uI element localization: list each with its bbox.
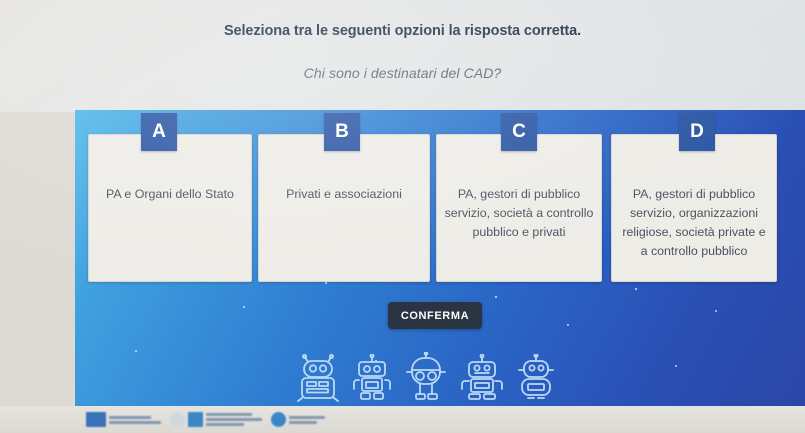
question-header: Seleziona tra le seguenti opzioni la ris… — [0, 0, 805, 112]
answer-option-b[interactable]: Privati e associazioni — [258, 134, 430, 282]
answer-badge-d[interactable]: D — [679, 113, 715, 151]
confirm-button[interactable]: CONFERMA — [388, 302, 482, 329]
quiz-screen: Seleziona tra le seguenti opzioni la ris… — [0, 0, 805, 433]
star-speck — [715, 310, 717, 312]
answer-option-a[interactable]: PA e Organi dello Stato — [88, 134, 252, 282]
robot-icon-1 — [296, 354, 340, 402]
robot-icon-4 — [460, 354, 504, 402]
answer-option-c-label: PA, gestori di pubblico servizio, societ… — [443, 185, 595, 242]
star-speck — [495, 296, 497, 298]
robot-icon-3 — [403, 352, 449, 402]
robot-icon-2 — [351, 354, 393, 402]
star-speck — [675, 365, 677, 367]
footer-logos — [86, 410, 325, 429]
answer-option-d[interactable]: PA, gestori di pubblico servizio, organi… — [611, 134, 777, 282]
star-speck — [243, 306, 245, 308]
european-union-logo — [86, 412, 161, 427]
answer-option-b-label: Privati e associazioni — [265, 185, 423, 204]
italian-government-logo — [170, 412, 262, 427]
star-speck — [567, 324, 569, 326]
answer-badge-b[interactable]: B — [324, 113, 360, 151]
answer-badge-a[interactable]: A — [141, 113, 177, 151]
answer-option-d-label: PA, gestori di pubblico servizio, organi… — [618, 185, 770, 261]
star-speck — [635, 288, 637, 290]
answer-badge-c[interactable]: C — [501, 113, 537, 151]
answer-option-a-label: PA e Organi dello Stato — [95, 185, 245, 204]
instruction-text: Seleziona tra le seguenti opzioni la ris… — [0, 23, 805, 39]
star-speck — [135, 350, 137, 352]
question-text: Chi sono i destinatari del CAD? — [0, 65, 805, 81]
answer-option-c[interactable]: PA, gestori di pubblico servizio, societ… — [436, 134, 602, 282]
footer-bar: ⟵ 34 / 39 ⟶ ? — [0, 406, 805, 433]
dipartimento-logo — [271, 412, 325, 427]
robot-icon-5 — [514, 354, 558, 402]
star-speck — [325, 282, 327, 284]
robot-decoration-row — [296, 352, 558, 402]
